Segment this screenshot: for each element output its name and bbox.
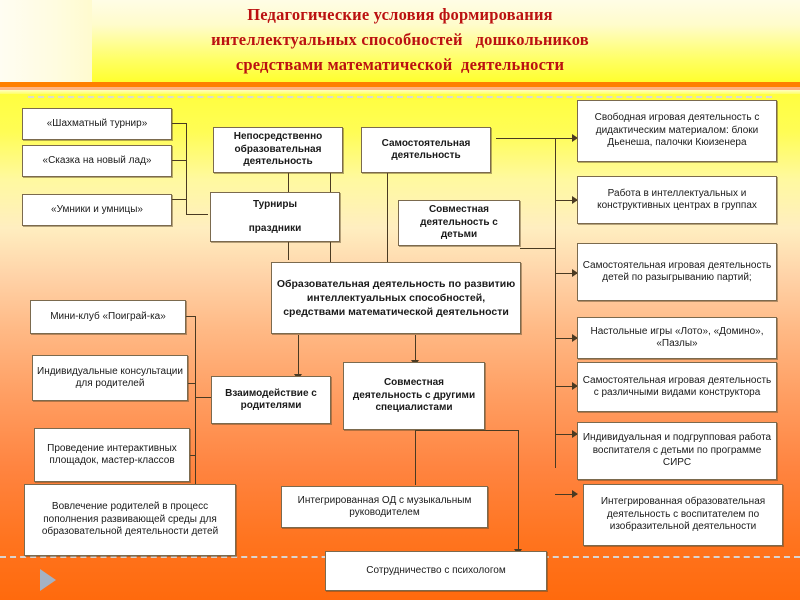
connector-left-2 xyxy=(172,160,187,161)
box-label: Самостоятельная деятельность xyxy=(366,138,486,163)
box-label: Настольные игры «Лото», «Домино», «Пазлы… xyxy=(582,326,772,351)
connector-left-1 xyxy=(172,123,187,124)
arrow-right-7 xyxy=(572,490,578,498)
list-item[interactable]: Вовлечение родителей в процесс пополнени… xyxy=(24,484,236,556)
list-item[interactable]: Интегрированная образовательная деятельн… xyxy=(583,484,783,546)
box-label: Интегрированная ОД с музыкальным руковод… xyxy=(286,495,483,520)
title-accent-stripe-pale xyxy=(0,90,800,94)
connector-psychologist-riser xyxy=(518,430,519,552)
list-item[interactable]: Мини-клуб «Поиграй-ка» xyxy=(30,300,186,334)
connector-left-bus xyxy=(186,123,187,215)
connector-left-bus-to-mid xyxy=(186,214,208,215)
list-item[interactable]: «Шахматный турнир» xyxy=(22,108,172,140)
connector-parents-bus xyxy=(195,316,196,486)
box-label: Совместная деятельность с детьми xyxy=(403,204,515,242)
box-label: Свободная игровая деятельность с дидакти… xyxy=(582,112,772,150)
connector-main-to-right-bus xyxy=(520,248,556,249)
connector-right-bus xyxy=(555,138,556,468)
box-label: Работа в интеллектуальных и конструктивн… xyxy=(582,188,772,213)
list-item[interactable]: Интегрированная ОД с музыкальным руковод… xyxy=(281,486,488,528)
triangle-right-icon[interactable] xyxy=(40,569,56,591)
main-box[interactable]: Образовательная деятельность по развитию… xyxy=(271,262,521,334)
connector-main-down-parents xyxy=(298,335,299,377)
connector-independent-right xyxy=(496,138,576,139)
list-item[interactable]: Взаимодействие с родителями xyxy=(211,376,331,424)
connector-joint-children-up xyxy=(387,171,388,263)
list-item[interactable]: Непосредственно образовательная деятельн… xyxy=(213,127,343,173)
list-item[interactable]: Самостоятельная игровая деятельность с р… xyxy=(577,362,777,412)
list-item[interactable]: Самостоятельная игровая деятельность дет… xyxy=(577,243,777,301)
title-line-2: интеллектуальных способностей дошкольник… xyxy=(0,27,800,52)
box-label: Взаимодействие с родителями xyxy=(216,388,326,413)
list-item[interactable]: «Умники и умницы» xyxy=(22,194,172,226)
connector-main-right-riser xyxy=(555,225,556,249)
box-label-line1: Турниры xyxy=(215,199,335,212)
list-item[interactable]: Сотрудничество с психологом xyxy=(325,551,547,591)
connector-left-3 xyxy=(172,199,187,200)
box-label: «Шахматный турнир» xyxy=(27,118,167,131)
list-item[interactable]: Совместная деятельность с детьми xyxy=(398,200,520,246)
title-line-1: Педагогические условия формирования xyxy=(0,2,800,27)
list-item[interactable]: Турниры праздники xyxy=(210,192,340,242)
main-box-label: Образовательная деятельность по развитию… xyxy=(276,277,516,319)
list-item[interactable]: Проведение интерактивных площадок, масте… xyxy=(34,428,190,482)
list-item[interactable]: «Сказка на новый лад» xyxy=(22,145,172,177)
connector-specialists-down xyxy=(415,430,416,485)
dashed-separator-top xyxy=(28,96,772,98)
list-item[interactable]: Индивидуальные консультации для родителе… xyxy=(32,355,188,401)
list-item[interactable]: Настольные игры «Лото», «Домино», «Пазлы… xyxy=(577,317,777,359)
page-title: Педагогические условия формирования инте… xyxy=(0,2,800,77)
box-label: Проведение интерактивных площадок, масте… xyxy=(39,443,185,468)
connector-specialists-to-psych xyxy=(415,430,519,431)
list-item[interactable]: Совместная деятельность с другими специа… xyxy=(343,362,485,430)
list-item[interactable]: Работа в интеллектуальных и конструктивн… xyxy=(577,176,777,224)
box-label: Сотрудничество с психологом xyxy=(330,565,542,578)
box-label: Самостоятельная игровая деятельность дет… xyxy=(582,260,772,285)
list-item[interactable]: Индивидуальная и подгрупповая работа вос… xyxy=(577,422,777,480)
box-label: Индивидуальная и подгрупповая работа вос… xyxy=(582,432,772,470)
box-label: Непосредственно образовательная деятельн… xyxy=(218,131,338,169)
box-label: «Умники и умницы» xyxy=(27,204,167,217)
title-line-3: средствами математической деятельности xyxy=(0,52,800,77)
box-label: «Сказка на новый лад» xyxy=(27,155,167,168)
box-label: Совместная деятельность с другими специа… xyxy=(348,377,480,415)
list-item[interactable]: Свободная игровая деятельность с дидакти… xyxy=(577,100,777,162)
slide-canvas: Педагогические условия формирования инте… xyxy=(0,0,800,600)
box-label: Самостоятельная игровая деятельность с р… xyxy=(582,375,772,400)
box-label: Мини-клуб «Поиграй-ка» xyxy=(35,311,181,324)
box-label: Вовлечение родителей в процесс пополнени… xyxy=(29,501,231,539)
list-item[interactable]: Самостоятельная деятельность xyxy=(361,127,491,173)
connector-main-down-specialists xyxy=(415,335,416,363)
box-label-line2: праздники xyxy=(215,223,335,236)
box-label: Интегрированная образовательная деятельн… xyxy=(588,496,778,534)
box-label: Индивидуальные консультации для родителе… xyxy=(37,366,183,391)
